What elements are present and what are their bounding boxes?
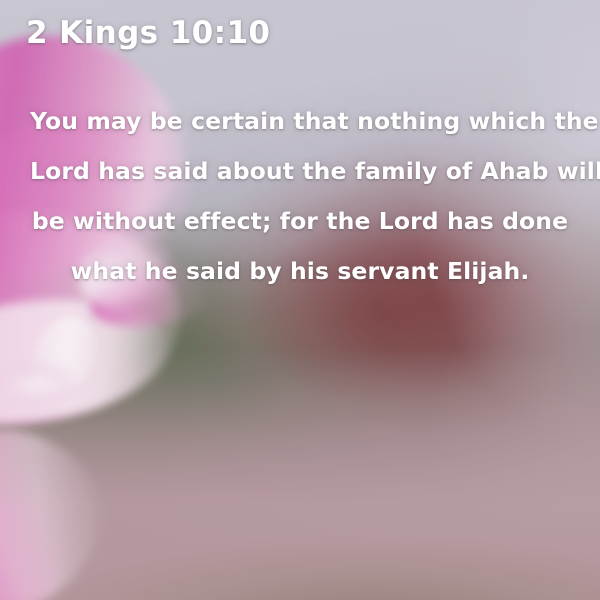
verse-line-3: be without effect; for the Lord has done — [30, 196, 570, 246]
verse-line-1: You may be certain that nothing which th… — [30, 96, 570, 146]
verse-body-text: You may be certain that nothing which th… — [30, 96, 570, 296]
verse-line-4: what he said by his servant Elijah. — [30, 246, 570, 296]
text-overlay: 2 Kings 10:10 You may be certain that no… — [0, 0, 600, 600]
verse-image-card: 2 Kings 10:10 You may be certain that no… — [0, 0, 600, 600]
verse-line-2: Lord has said about the family of Ahab w… — [30, 146, 570, 196]
verse-reference-title: 2 Kings 10:10 — [26, 15, 270, 51]
